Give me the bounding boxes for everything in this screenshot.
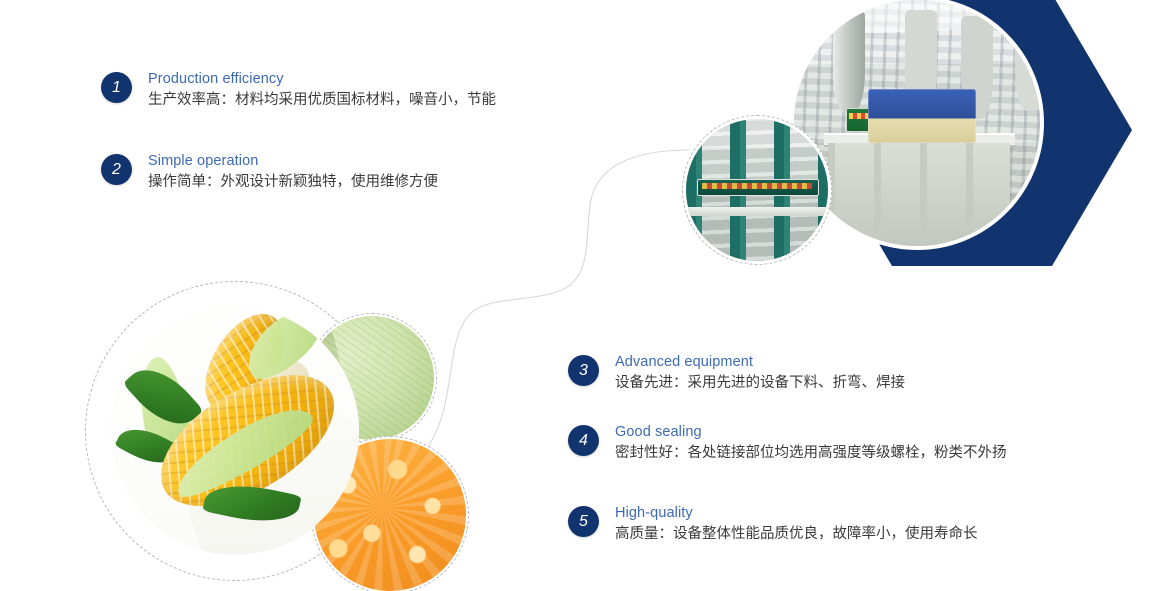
feature-title: Good sealing [615, 423, 1007, 442]
corn-photo-group [85, 281, 470, 591]
feature-title: Advanced equipment [615, 353, 905, 372]
feature-number-badge: 3 [568, 355, 599, 386]
feature-text-block: Good sealing 密封性好：各处链接部位均选用高强度等级螺栓，粉类不外扬 [615, 423, 1007, 464]
feature-item-4[interactable]: 4 Good sealing 密封性好：各处链接部位均选用高强度等级螺栓，粉类不… [568, 423, 1007, 464]
factory-legs [828, 143, 1010, 246]
feature-title: Simple operation [148, 152, 438, 171]
feature-text-block: High-quality 高质量：设备整体性能品质优良，故障率小，使用寿命长 [615, 504, 978, 545]
feature-text-block: Simple operation 操作简单：外观设计新颖独特，使用维修方便 [148, 152, 438, 193]
feature-text-block: Advanced equipment 设备先进：采用先进的设备下料、折弯、焊接 [615, 353, 905, 394]
feature-description: 生产效率高：材料均采用优质国标材料，噪音小，节能 [148, 89, 496, 111]
factory-small-photo [682, 115, 832, 265]
corn-cob-photo [111, 307, 359, 555]
feature-number-badge: 2 [101, 154, 132, 185]
infographic-canvas: 1 Production efficiency 生产效率高：材料均采用优质国标材… [0, 0, 1154, 591]
feature-description: 操作简单：外观设计新颖独特，使用维修方便 [148, 171, 438, 193]
factory-photo-group [660, 0, 1154, 284]
feature-number-badge: 5 [568, 506, 599, 537]
feature-item-2[interactable]: 2 Simple operation 操作简单：外观设计新颖独特，使用维修方便 [101, 152, 438, 193]
feature-number-badge: 1 [101, 72, 132, 103]
feature-description: 密封性好：各处链接部位均选用高强度等级螺栓，粉类不外扬 [615, 442, 1007, 464]
feature-number-badge: 4 [568, 425, 599, 456]
greenmill-floor [686, 207, 828, 216]
feature-item-3[interactable]: 3 Advanced equipment 设备先进：采用先进的设备下料、折弯、焊… [568, 353, 905, 394]
feature-description: 设备先进：采用先进的设备下料、折弯、焊接 [615, 372, 905, 394]
feature-description: 高质量：设备整体性能品质优良，故障率小，使用寿命长 [615, 523, 978, 545]
feature-title: Production efficiency [148, 70, 496, 89]
feature-text-block: Production efficiency 生产效率高：材料均采用优质国标材料，… [148, 70, 496, 111]
feature-title: High-quality [615, 504, 978, 523]
feature-item-1[interactable]: 1 Production efficiency 生产效率高：材料均采用优质国标材… [101, 70, 496, 111]
factory-banner [846, 108, 912, 132]
feature-item-5[interactable]: 5 High-quality 高质量：设备整体性能品质优良，故障率小，使用寿命长 [568, 504, 978, 545]
